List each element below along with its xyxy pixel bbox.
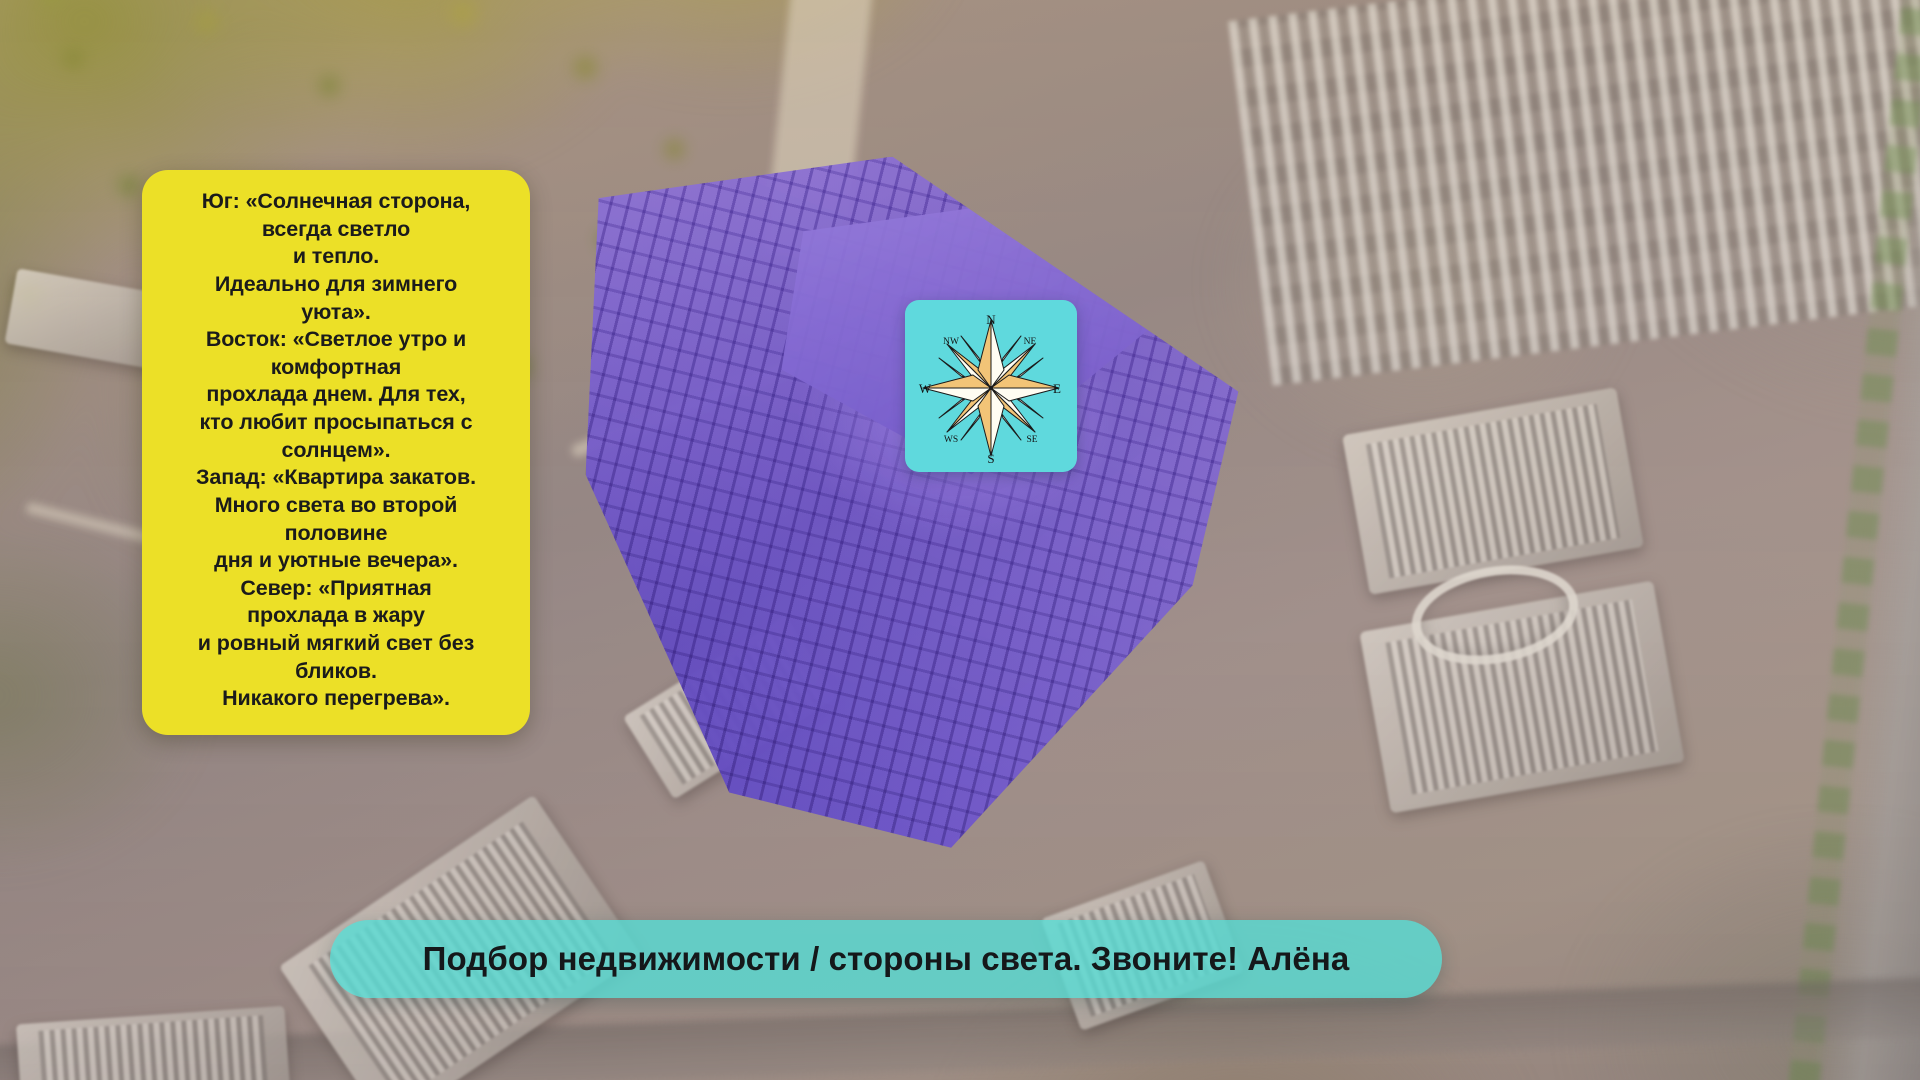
card-line-5: Восток: «Светлое утро и <box>158 326 514 354</box>
compass-rose-widget: N E S W NE SE WS NW <box>905 300 1077 472</box>
card-line-14: Север: «Приятная <box>158 575 514 603</box>
card-line-8: кто любит просыпаться с <box>158 409 514 437</box>
card-line-7: прохлада днем. Для тех, <box>158 381 514 409</box>
card-line-1: всегда светло <box>158 216 514 244</box>
card-line-11: Много света во второй <box>158 492 514 520</box>
compass-rose-icon: N E S W NE SE WS NW <box>905 300 1077 472</box>
card-line-18: Никакого перегрева». <box>158 685 514 713</box>
cta-banner[interactable]: Подбор недвижимости / стороны света. Зво… <box>330 920 1442 998</box>
compass-label-northeast: NE <box>1024 337 1037 347</box>
compass-label-southeast: SE <box>1026 435 1037 445</box>
cta-banner-text: Подбор недвижимости / стороны света. Зво… <box>423 940 1350 978</box>
compass-label-east: E <box>1053 381 1061 396</box>
card-line-3: Идеально для зимнего <box>158 271 514 299</box>
card-line-17: бликов. <box>158 658 514 686</box>
card-line-2: и тепло. <box>158 243 514 271</box>
card-line-13: дня и уютные вечера». <box>158 547 514 575</box>
poster-canvas: Юг: «Солнечная сторона, всегда светло и … <box>0 0 1920 1080</box>
card-line-10: Запад: «Квартира закатов. <box>158 464 514 492</box>
compass-label-south: S <box>987 451 994 466</box>
compass-label-west: W <box>919 381 932 396</box>
card-line-6: комфортная <box>158 354 514 382</box>
card-line-16: и ровный мягкий свет без <box>158 630 514 658</box>
compass-label-northwest: NW <box>943 337 959 347</box>
card-line-9: солнцем». <box>158 437 514 465</box>
card-line-12: половине <box>158 520 514 548</box>
card-line-15: прохлада в жару <box>158 602 514 630</box>
card-line-0: Юг: «Солнечная сторона, <box>158 188 514 216</box>
card-line-4: уюта». <box>158 299 514 327</box>
orientation-info-card: Юг: «Солнечная сторона, всегда светло и … <box>142 170 530 735</box>
compass-label-north: N <box>986 312 996 327</box>
compass-label-southwest: WS <box>944 435 958 445</box>
